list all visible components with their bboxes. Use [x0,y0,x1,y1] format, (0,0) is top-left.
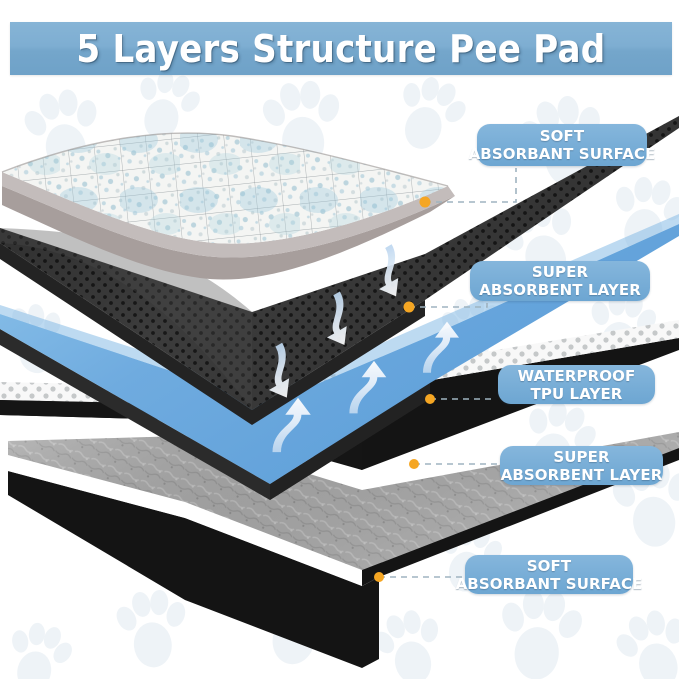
callout-label-line1: SOFT [540,127,584,145]
connector-dot-2 [404,302,415,313]
callout-label-waterproof-tpu: WATERPROOF TPU LAYER [498,365,655,404]
callout-label-super-absorbent-upper: SUPER ABSORBENT LAYER [470,261,650,301]
infographic-canvas: 5 Layers Structure Pee Pad [0,0,679,679]
callout-label-line2: ABSORBANT SURFACE [469,145,656,163]
callout-label-line1: SOFT [527,557,571,575]
callout-label-line1: WATERPROOF [518,367,636,385]
callout-label-soft-absorbant-surface-bottom: SOFT ABSORBANT SURFACE [465,555,633,594]
callout-label-line2: ABSORBANT SURFACE [456,575,643,593]
callout-label-line2: ABSORBENT LAYER [501,466,663,484]
connector-line-2 [409,303,487,307]
callout-label-line1: SUPER [532,263,588,281]
callout-label-super-absorbent-lower: SUPER ABSORBENT LAYER [500,446,663,485]
connector-dot-1 [420,197,431,208]
callout-label-line1: SUPER [553,448,609,466]
callout-label-soft-absorbant-surface-top: SOFT ABSORBANT SURFACE [477,124,647,166]
connector-dot-4 [409,459,419,469]
connector-dot-3 [425,394,435,404]
callout-label-line2: TPU LAYER [531,385,623,403]
connector-line-1 [425,168,516,202]
connector-dot-5 [374,572,384,582]
callout-label-line2: ABSORBENT LAYER [479,281,641,299]
